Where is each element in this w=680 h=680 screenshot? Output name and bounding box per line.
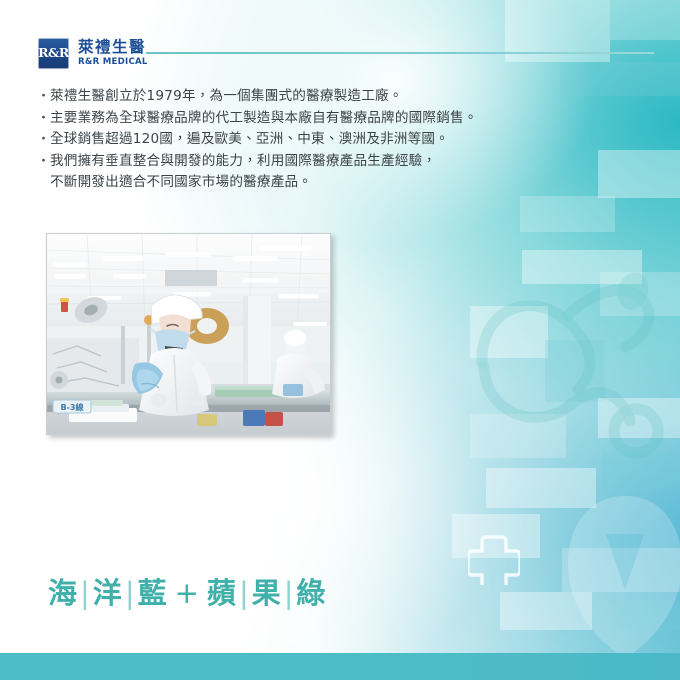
bullet-line: 全球銷售超過120國，遍及歐美、亞洲、中東、澳洲及非洲等國。 (50, 131, 449, 147)
bullet-line: 主要業務為全球醫療品牌的代工製造與本廠自有醫療品牌的國際銷售。 (50, 110, 478, 126)
brand-name-en: R&R MEDICAL (78, 57, 148, 67)
logo-mark-text: R&R (38, 47, 69, 60)
intro-bullet-list: ・ 萊禮生醫創立於1979年，為一個集團式的醫療製造工廠。 ・ 主要業務為全球醫… (37, 86, 597, 194)
bullet-text: 全球銷售超過120國，遍及歐美、亞洲、中東、澳洲及非洲等國。 (50, 129, 597, 151)
slogan-separator-2: | (123, 576, 138, 610)
stethoscope-icon (450, 255, 680, 485)
slogan-part-1: 海 (48, 576, 78, 610)
bullet-marker: ・ (37, 129, 50, 151)
bullet-marker: ・ (37, 108, 50, 130)
slogan-part-6: 綠 (297, 576, 327, 610)
list-item: ・ 主要業務為全球醫療品牌的代工製造與本廠自有醫療品牌的國際銷售。 (37, 108, 597, 130)
list-item: ・ 全球銷售超過120國，遍及歐美、亞洲、中東、澳洲及非洲等國。 (37, 129, 597, 151)
logo-mark-icon: R&R (38, 38, 69, 69)
bullet-text: 我們擁有垂直整合與開發的能力，利用國際醫療產品生產經驗， 不斷開發出適合不同國家… (50, 151, 597, 194)
footer-band (0, 653, 680, 680)
bullet-marker: ・ (37, 86, 50, 108)
slogan-separator-4: | (282, 576, 297, 610)
slogan-separator-1: | (78, 576, 93, 610)
bullet-marker: ・ (37, 151, 50, 173)
header-divider (146, 52, 654, 54)
bullet-text: 萊禮生醫創立於1979年，為一個集團式的醫療製造工廠。 (50, 86, 597, 108)
slogan-separator-3: | (237, 576, 252, 610)
list-item: ・ 我們擁有垂直整合與開發的能力，利用國際醫療產品生產經驗， 不斷開發出適合不同… (37, 151, 597, 194)
slide-canvas: R&R 萊禮生醫 R&R MEDICAL ・ 萊禮生醫創立於1979年，為一個集… (0, 0, 680, 680)
list-item: ・ 萊禮生醫創立於1979年，為一個集團式的醫療製造工廠。 (37, 86, 597, 108)
brand-name-cn: 萊禮生醫 (78, 39, 148, 56)
bullet-line: 我們擁有垂直整合與開發的能力，利用國際醫療產品生產經驗， (50, 153, 436, 169)
brand-name-block: 萊禮生醫 R&R MEDICAL (78, 39, 148, 68)
slogan-plus: + (168, 576, 207, 610)
bullet-line: 萊禮生醫創立於1979年，為一個集團式的醫療製造工廠。 (50, 88, 403, 104)
slogan-part-5: 果 (252, 576, 282, 610)
factory-photo: B-3線 (46, 233, 331, 435)
slogan-part-3: 藍 (138, 576, 168, 610)
slogan-part-2: 洋 (93, 576, 123, 610)
bullet-line-continuation: 不斷開發出適合不同國家市場的醫療產品。 (50, 172, 597, 194)
brand-logo: R&R 萊禮生醫 R&R MEDICAL (38, 36, 148, 70)
slogan-part-4: 蘋 (207, 576, 237, 610)
factory-photo-image: B-3線 (47, 234, 330, 434)
medical-cross-icon (468, 533, 520, 585)
bullet-text: 主要業務為全球醫療品牌的代工製造與本廠自有醫療品牌的國際銷售。 (50, 108, 597, 130)
slogan: 海|洋|藍+蘋|果|綠 (48, 578, 327, 610)
face-mask-icon (560, 490, 680, 665)
